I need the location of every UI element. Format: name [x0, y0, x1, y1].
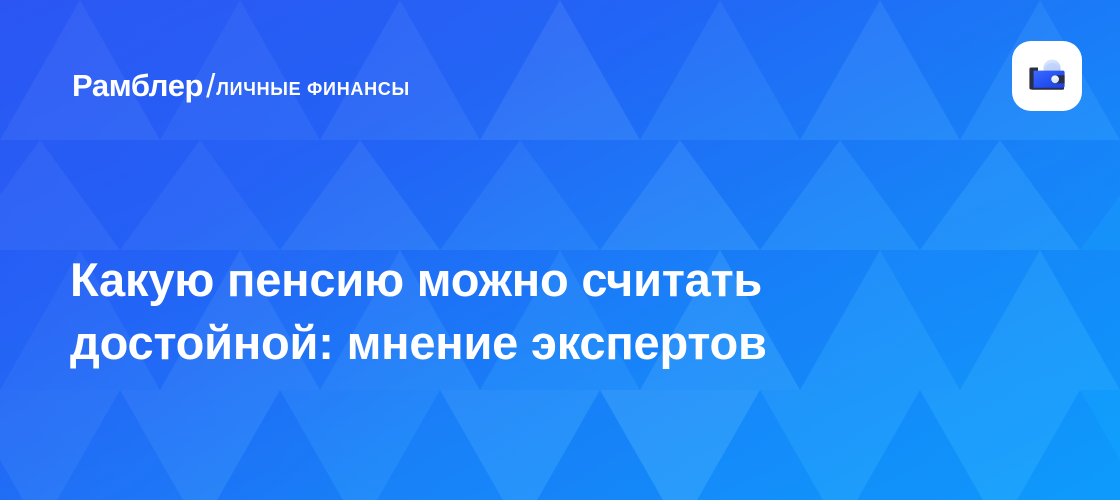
wallet-icon — [1022, 51, 1072, 101]
brand-name: Рамблер — [72, 70, 203, 101]
article-headline: Какую пенсию можно считать достойной: мн… — [70, 249, 970, 373]
brand-separator-slash: / — [206, 69, 215, 102]
brand-section-label: Личные финансы — [216, 80, 410, 98]
article-cover-banner: Рамблер / Личные финансы — [0, 0, 1120, 500]
wallet-app-icon-tile[interactable] — [1012, 41, 1082, 111]
brand-logo-lockup[interactable]: Рамблер / Личные финансы — [72, 68, 410, 101]
headline-line-1: Какую пенсию можно считать — [70, 249, 970, 311]
headline-line-2: достойной: мнение экспертов — [70, 312, 970, 374]
